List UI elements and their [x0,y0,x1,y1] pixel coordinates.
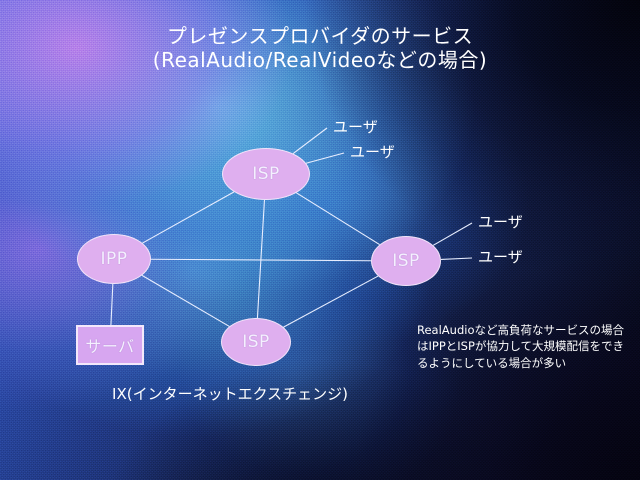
edge-ipp-to-isp-bottom [142,275,229,326]
edge-isp-top-to-isp-right [296,193,379,245]
ix-caption: IX(インターネットエクスチェンジ) [0,386,460,403]
edge-isp-bottom-to-isp-right [283,276,378,327]
connector-user-top-2 [306,153,344,163]
edge-ipp-to-server [111,284,113,325]
edge-ipp-to-isp-top [143,192,235,243]
network-topology-edges [0,0,640,480]
edge-isp-top-to-isp-bottom [257,200,264,318]
edge-group [111,192,380,327]
presentation-slide: プレゼンスプロバイダのサービス (RealAudio/RealVideoなどの場… [0,0,640,480]
connector-user-right-1 [433,223,472,245]
user-connector-group [293,128,472,259]
annotation-note: RealAudioなど高負荷なサービスの場合はIPPとISPが協力して大規模配信… [417,322,629,371]
connector-user-top-1 [293,128,327,154]
connector-user-right-2 [441,258,472,259]
